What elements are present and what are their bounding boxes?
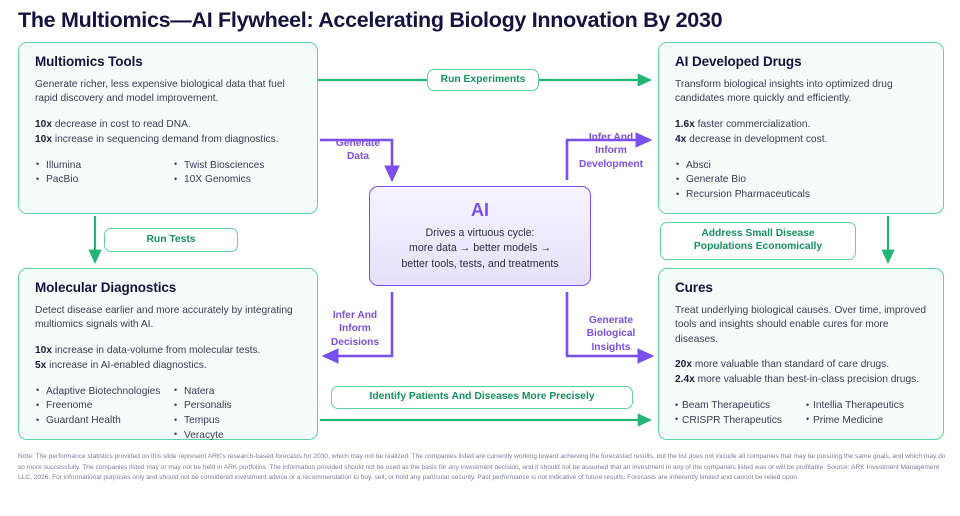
- pill-run-tests: Run Tests: [104, 228, 238, 252]
- list-item: Intellia Therapeutics: [806, 399, 927, 414]
- stat-text: more valuable than standard of care drug…: [692, 359, 889, 370]
- company-list-right: Twist Biosciences 10X Genomics: [173, 159, 301, 189]
- company-list-right: Natera Personalis Tempus Veracyte: [173, 385, 301, 444]
- company-list-left: Illumina PacBio: [35, 159, 163, 189]
- card-title-molecular-diagnostics: Molecular Diagnostics: [35, 280, 301, 295]
- arrow-label-line-1: Infer And: [572, 131, 650, 144]
- arrow-label-generate-data: Generate Data: [327, 137, 389, 164]
- pill-identify-patients: Identify Patients And Diseases More Prec…: [331, 386, 633, 409]
- card-description-cures: Treat underlying biological causes. Over…: [675, 304, 927, 347]
- arrow-label-line-1: Infer And: [322, 309, 388, 322]
- company-list-right: Intellia Therapeutics Prime Medicine: [806, 399, 927, 429]
- pill-label: Identify Patients And Diseases More Prec…: [369, 391, 594, 404]
- stat-text: increase in data-volume from molecular t…: [52, 345, 260, 356]
- list-item: PacBio: [35, 173, 163, 188]
- arrow-label-line-2: Data: [327, 150, 389, 163]
- arrow-label-line-1: Generate: [327, 137, 389, 150]
- footnote-disclaimer: Note: The performance statistics provide…: [18, 452, 946, 484]
- ai-desc-line-2: more data → better models →: [401, 241, 558, 256]
- card-stats-cures: 20x more valuable than standard of care …: [675, 358, 927, 388]
- list-item: Adaptive Biotechnologies: [35, 385, 163, 400]
- card-cures: Cures Treat underlying biological causes…: [658, 268, 944, 440]
- stat-value: 10x: [35, 345, 52, 356]
- stat-text: increase in AI-enabled diagnostics.: [46, 360, 206, 371]
- company-list-left: Absci Generate Bio Recursion Pharmaceuti…: [675, 159, 927, 203]
- ai-desc-line-1: Drives a virtuous cycle:: [401, 226, 558, 241]
- list-item: Absci: [675, 159, 927, 174]
- list-item: Guardant Health: [35, 414, 163, 429]
- arrow-label-line-3: Development: [572, 158, 650, 171]
- card-description-ai-developed-drugs: Transform biological insights into optim…: [675, 78, 927, 107]
- stat-value: 4x: [675, 134, 686, 145]
- arrow-label-line-2: Inform: [322, 322, 388, 335]
- pill-run-experiments: Run Experiments: [427, 69, 539, 91]
- center-ai-box: AI Drives a virtuous cycle: more data → …: [369, 186, 591, 286]
- stat-value: 10x: [35, 119, 52, 130]
- arrow-label-line-1: Generate: [578, 314, 644, 327]
- arrow-label-line-2: Biological: [578, 327, 644, 340]
- list-item: Tempus: [173, 414, 301, 429]
- arrow-label-infer-inform-development: Infer And Inform Development: [572, 131, 650, 171]
- card-molecular-diagnostics: Molecular Diagnostics Detect disease ear…: [18, 268, 318, 440]
- list-item: Generate Bio: [675, 173, 927, 188]
- card-title-ai-developed-drugs: AI Developed Drugs: [675, 54, 927, 69]
- pill-address-small-disease-populations: Address Small Disease Populations Econom…: [660, 222, 856, 260]
- company-list-left: Beam Therapeutics CRISPR Therapeutics: [675, 399, 796, 429]
- arrow-label-generate-biological-insights: Generate Biological Insights: [578, 314, 644, 354]
- card-multiomics-tools: Multiomics Tools Generate richer, less e…: [18, 42, 318, 214]
- list-item: 10X Genomics: [173, 173, 301, 188]
- pill-label: Run Tests: [146, 234, 195, 247]
- arrow-label-infer-inform-decisions: Infer And Inform Decisions: [322, 309, 388, 349]
- stat-value: 20x: [675, 359, 692, 370]
- list-item: Natera: [173, 385, 301, 400]
- company-columns: Adaptive Biotechnologies Freenome Guarda…: [35, 385, 301, 444]
- card-stats-molecular-diagnostics: 10x increase in data-volume from molecul…: [35, 344, 301, 374]
- card-ai-developed-drugs: AI Developed Drugs Transform biological …: [658, 42, 944, 214]
- stat-value: 1.6x: [675, 119, 695, 130]
- card-title-multiomics-tools: Multiomics Tools: [35, 54, 301, 69]
- pill-label-line-2: Populations Economically: [694, 241, 822, 252]
- stat-text: more valuable than best-in-class precisi…: [695, 374, 919, 385]
- stat-text: faster commercialization.: [695, 119, 811, 130]
- pill-label: Run Experiments: [441, 74, 526, 87]
- list-item: Prime Medicine: [806, 414, 927, 429]
- list-item: Recursion Pharmaceuticals: [675, 188, 927, 203]
- company-columns: Absci Generate Bio Recursion Pharmaceuti…: [675, 159, 927, 203]
- card-description-multiomics-tools: Generate richer, less expensive biologic…: [35, 78, 301, 107]
- ai-desc-line-3: better tools, tests, and treatments: [401, 257, 558, 272]
- stat-value: 5x: [35, 360, 46, 371]
- list-item: Illumina: [35, 159, 163, 174]
- list-item: CRISPR Therapeutics: [675, 414, 796, 429]
- company-columns: Illumina PacBio Twist Biosciences 10X Ge…: [35, 159, 301, 189]
- stat-value: 2.4x: [675, 374, 695, 385]
- stat-text: increase in sequencing demand from diagn…: [52, 134, 279, 145]
- card-stats-ai-developed-drugs: 1.6x faster commercialization. 4x decrea…: [675, 118, 927, 148]
- pill-label: Address Small Disease Populations Econom…: [694, 228, 822, 254]
- list-item: Twist Biosciences: [173, 159, 301, 174]
- card-stats-multiomics-tools: 10x decrease in cost to read DNA. 10x in…: [35, 118, 301, 148]
- arrow-label-line-2: Inform: [572, 144, 650, 157]
- list-item: Veracyte: [173, 429, 301, 444]
- infographic-slide: The Multiomics—AI Flywheel: Accelerating…: [0, 0, 960, 516]
- arrow-label-line-3: Decisions: [322, 336, 388, 349]
- list-item: Freenome: [35, 399, 163, 414]
- stat-text: decrease in development cost.: [686, 134, 827, 145]
- company-list-left: Adaptive Biotechnologies Freenome Guarda…: [35, 385, 163, 444]
- ai-box-description: Drives a virtuous cycle: more data → bet…: [401, 226, 558, 272]
- list-item: Beam Therapeutics: [675, 399, 796, 414]
- ai-box-title: AI: [471, 200, 489, 221]
- card-description-molecular-diagnostics: Detect disease earlier and more accurate…: [35, 304, 301, 333]
- company-columns: Beam Therapeutics CRISPR Therapeutics In…: [675, 399, 927, 429]
- arrow-label-line-3: Insights: [578, 341, 644, 354]
- card-title-cures: Cures: [675, 280, 927, 295]
- list-item: Personalis: [173, 399, 301, 414]
- stat-value: 10x: [35, 134, 52, 145]
- pill-label-line-1: Address Small Disease: [701, 228, 814, 239]
- stat-text: decrease in cost to read DNA.: [52, 119, 191, 130]
